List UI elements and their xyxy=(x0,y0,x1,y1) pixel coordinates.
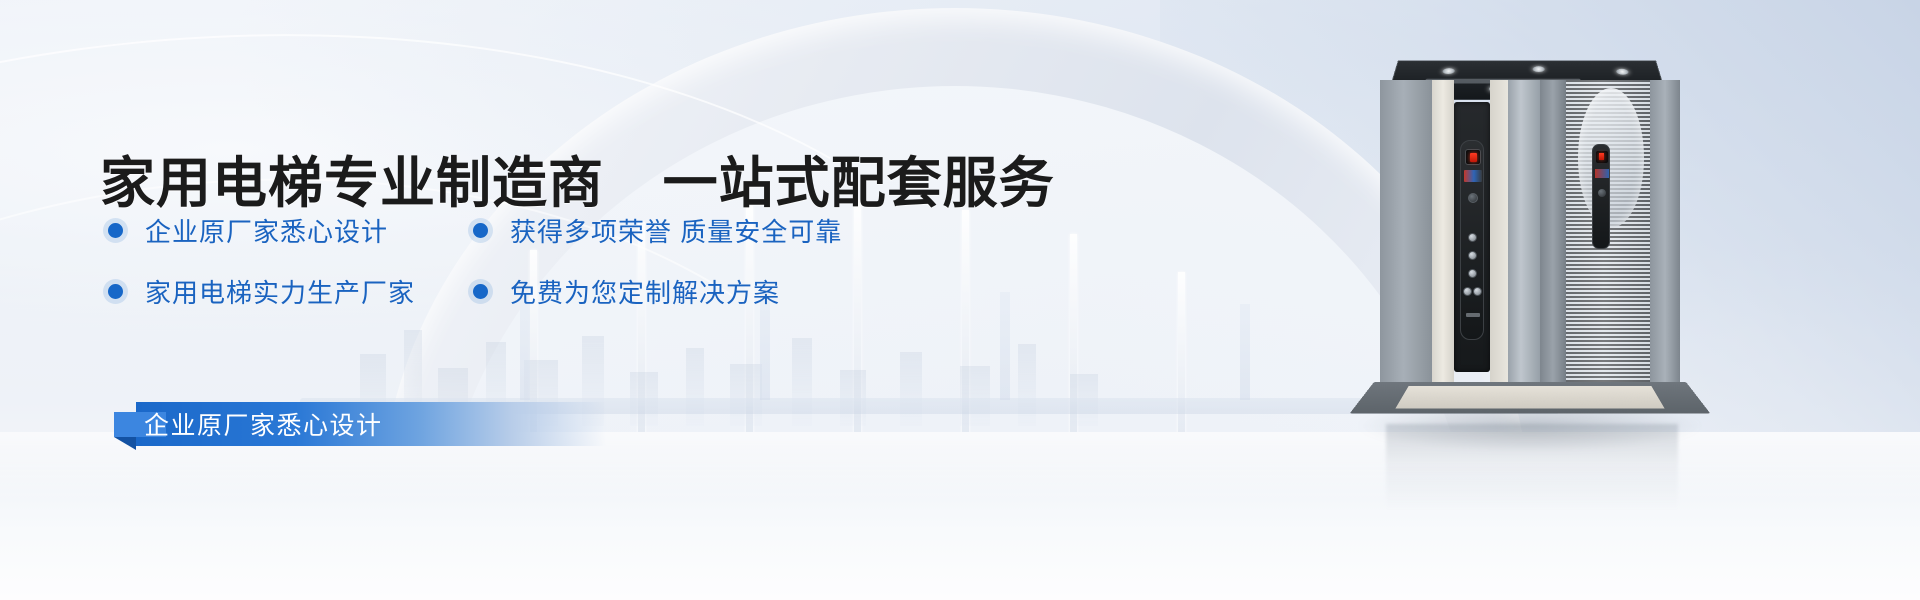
elevator-floor-tile xyxy=(1396,386,1664,409)
city-tower xyxy=(730,364,762,426)
bullet-dot-icon xyxy=(473,223,488,238)
city-tower xyxy=(960,366,990,426)
feature-item-4[interactable]: 免费为您定制解决方案 xyxy=(473,273,780,310)
elevator-mirror-oval xyxy=(1578,88,1644,228)
panel-logo-icon xyxy=(1466,313,1480,317)
elevator-control-panel-reflection xyxy=(1592,144,1610,249)
elevator-floor xyxy=(1350,382,1711,413)
feature-row: 家用电梯实力生产厂家 免费为您定制解决方案 xyxy=(108,273,1008,310)
city-tower xyxy=(900,352,922,426)
headline-part-2: 一站式配套服务 xyxy=(663,152,1055,214)
feature-list: 企业原厂家悉心设计 获得多项荣誉 质量安全可靠 家用电梯实力生产厂家 免费为您定… xyxy=(108,212,1008,310)
floor-button-icon[interactable] xyxy=(1468,233,1477,242)
ceiling-downlight-icon xyxy=(1442,68,1455,74)
elevator-interior xyxy=(1380,80,1680,390)
ceiling-downlight-icon xyxy=(1532,66,1544,72)
elevator-steel-panel-2 xyxy=(1540,80,1566,390)
feature-item-3[interactable]: 家用电梯实力生产厂家 xyxy=(108,273,473,310)
panel-brand-label xyxy=(1464,170,1482,182)
elevator-right-wall-panel xyxy=(1650,80,1680,390)
bullet-dot-icon xyxy=(473,284,488,299)
floor-button-icon[interactable] xyxy=(1468,251,1477,260)
emergency-key-reflection-icon xyxy=(1598,189,1606,197)
feature-label: 家用电梯实力生产厂家 xyxy=(145,273,415,310)
door-close-button-icon[interactable] xyxy=(1473,287,1482,296)
elevator-cabin xyxy=(1380,42,1680,424)
door-open-button-icon[interactable] xyxy=(1463,287,1472,296)
elevator-control-panel[interactable] xyxy=(1460,140,1484,340)
elevator-floor-reflection xyxy=(1386,424,1678,510)
feature-label: 企业原厂家悉心设计 xyxy=(145,212,388,249)
page-title: 家用电梯专业制造商 一站式配套服务 xyxy=(100,153,1055,215)
ribbon-label: 企业原厂家悉心设计 xyxy=(144,402,383,446)
city-tower xyxy=(686,348,704,426)
feature-label: 获得多项荣誉 质量安全可靠 xyxy=(510,212,842,249)
elevator-cream-panel-2 xyxy=(1490,80,1508,390)
bridge-pylon xyxy=(1240,304,1250,400)
elevator-left-wall-panel xyxy=(1380,80,1432,390)
floor-button-icon[interactable] xyxy=(1468,269,1477,278)
bridge-pylon xyxy=(520,300,530,400)
headline-part-1: 家用电梯专业制造商 xyxy=(100,152,604,214)
feature-label: 免费为您定制解决方案 xyxy=(510,273,780,310)
promo-banner: 家用电梯专业制造商 一站式配套服务 企业原厂家悉心设计 获得多项荣誉 质量安全可… xyxy=(0,0,1920,600)
floor-display-icon xyxy=(1465,149,1481,165)
panel-brand-reflection xyxy=(1595,169,1609,178)
feature-row: 企业原厂家悉心设计 获得多项荣誉 质量安全可靠 xyxy=(108,212,1008,249)
feature-item-2[interactable]: 获得多项荣誉 质量安全可靠 xyxy=(473,212,842,249)
ceiling-downlight-icon xyxy=(1616,69,1630,75)
elevator-steel-panel-1 xyxy=(1508,80,1540,390)
emergency-key-icon[interactable] xyxy=(1468,193,1478,203)
bullet-dot-icon xyxy=(108,284,123,299)
elevator-cream-panel xyxy=(1432,80,1454,390)
feature-item-1[interactable]: 企业原厂家悉心设计 xyxy=(108,212,473,249)
bullet-dot-icon xyxy=(108,223,123,238)
floor-display-reflection-icon xyxy=(1596,151,1608,163)
